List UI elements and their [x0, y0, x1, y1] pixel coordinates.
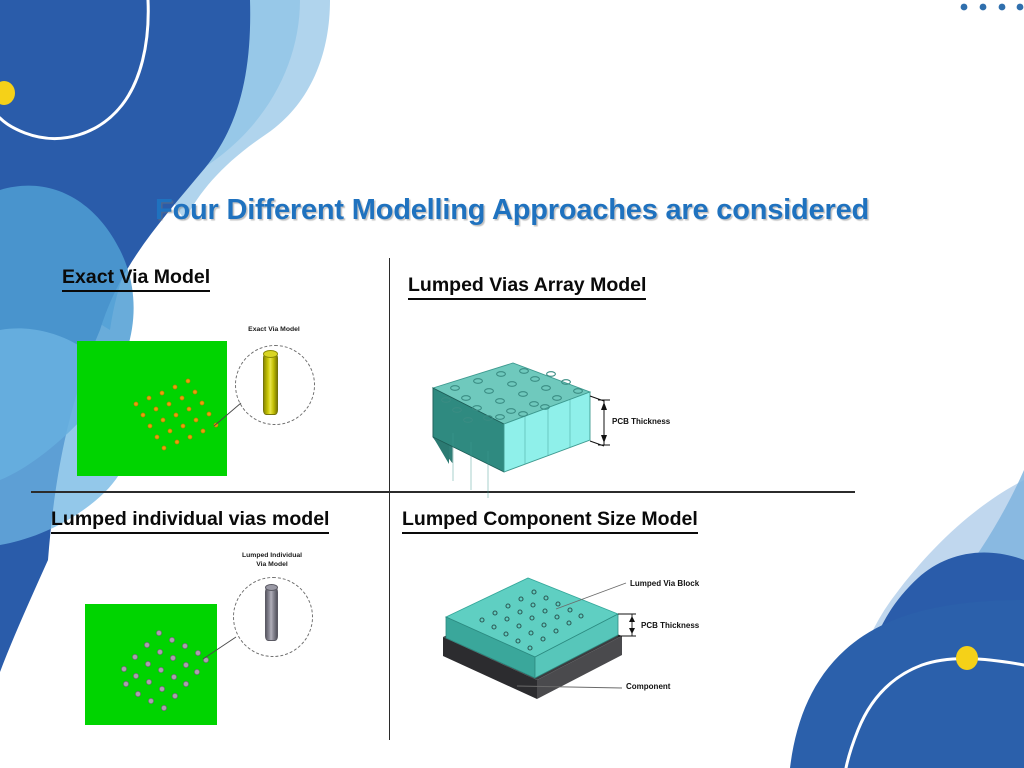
via-holes-top-face: [442, 369, 583, 423]
pcb-slab-front-right: [535, 614, 618, 678]
pcb-board-exact-via: [77, 341, 227, 476]
block-frontleft-face: [433, 388, 504, 472]
heading-lumped-individual-vias-model: Lumped individual vias model: [51, 508, 329, 534]
decor-blob-br-light: [904, 430, 1024, 768]
component-front-left: [443, 637, 537, 699]
leader-lines-component-model: [517, 583, 626, 688]
leader-lumped-via-block: [556, 583, 626, 609]
page-title: Four Different Modelling Approaches are …: [0, 194, 1024, 227]
label-pcb-thickness-array: PCB Thickness: [612, 417, 670, 426]
divider-horizontal: [31, 491, 855, 493]
callout-label-exact-via: Exact Via Model: [235, 325, 313, 334]
pcb-board-lumped-individual: [85, 604, 217, 725]
block-side-face-lower: [433, 388, 452, 462]
corner-dot-1: [961, 4, 968, 11]
via-cylinder-exact-cap: [263, 350, 278, 358]
label-component: Component: [626, 682, 670, 691]
heading-exact-via-model: Exact Via Model: [62, 266, 210, 292]
decor-dot-yellow-tl: [0, 81, 15, 105]
leader-component: [517, 686, 622, 688]
label-lumped-via-block: Lumped Via Block: [630, 579, 699, 588]
decor-blob-br-dark2: [790, 600, 1024, 768]
decor-bottom-right: [790, 430, 1024, 768]
decor-curve-br: [846, 659, 1024, 768]
block-side-face: [433, 388, 452, 462]
heading-lumped-vias-array-model: Lumped Vias Array Model: [408, 274, 646, 300]
decor-blob-tl-pale: [165, 0, 330, 220]
heading-lumped-component-size-model: Lumped Component Size Model: [402, 508, 698, 534]
slide-canvas: Four Different Modelling Approaches are …: [0, 0, 1024, 768]
callout-label-line1: Lumped Individual: [242, 552, 302, 559]
decor-blob-tl-dark: [0, 0, 250, 672]
pcb-thickness-dimension-bottom: [618, 614, 636, 636]
via-cylinder-lumped-individual: [265, 587, 278, 641]
via-cylinder-lumped-individual-cap: [265, 584, 278, 591]
corner-dot-4: [1017, 4, 1024, 11]
block-top-face: [433, 363, 590, 424]
decor-corner-dots: [961, 4, 1024, 11]
decor-top-left: [0, 0, 330, 672]
pcb-slab-top: [446, 578, 618, 657]
decor-blob-br-dark: [840, 552, 1024, 768]
block-left-face: [433, 388, 449, 464]
corner-dot-2: [980, 4, 987, 11]
callout-label-lumped-individual: Lumped Individual Via Model: [233, 551, 311, 569]
via-array-lumped-block: [480, 590, 583, 650]
component-front-right: [537, 636, 622, 699]
label-pcb-thickness-component: PCB Thickness: [641, 621, 699, 630]
callout-label-line2: Via Model: [256, 561, 288, 568]
pcb-slab-front-left: [446, 617, 535, 678]
component-top: [443, 598, 622, 680]
via-cylinder-exact: [263, 353, 278, 415]
block-seam-lines: [453, 399, 570, 498]
decor-dot-yellow-br: [956, 646, 978, 670]
decor-curve-tl: [0, 0, 148, 138]
block-frontright-face: [504, 392, 590, 472]
divider-vertical: [389, 258, 390, 740]
pcb-thickness-dimension-top: [590, 396, 610, 446]
decor-blob-br-pale: [840, 480, 1024, 768]
corner-dot-3: [999, 4, 1006, 11]
